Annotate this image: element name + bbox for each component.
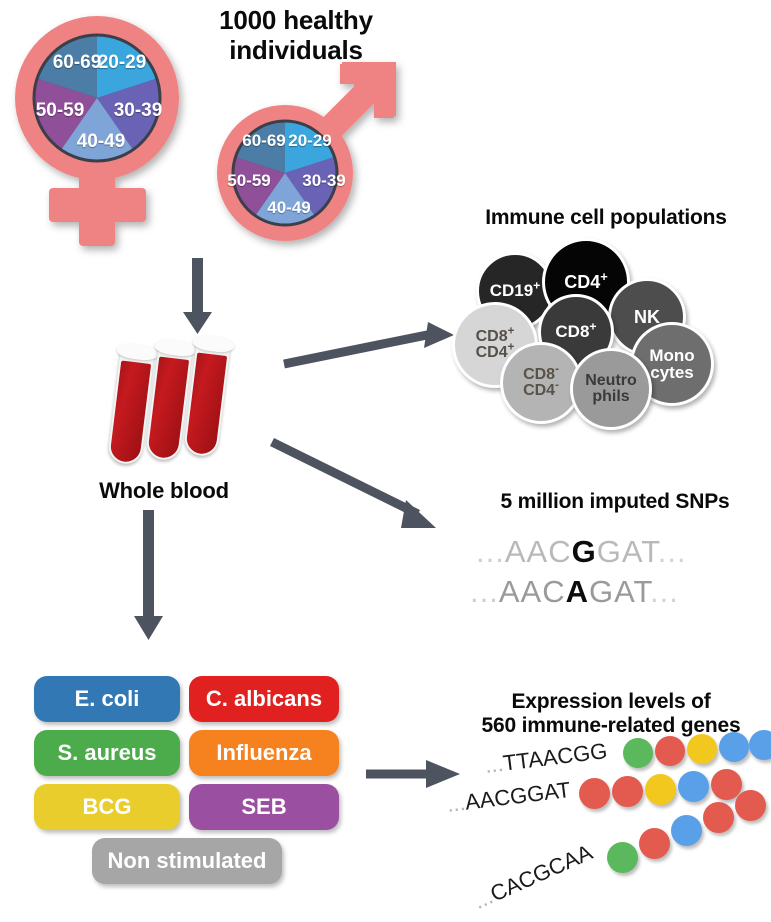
whole-blood-label: Whole blood xyxy=(84,478,244,503)
expression-bead xyxy=(612,776,643,807)
stimulus-seb[interactable]: SEB xyxy=(189,784,339,830)
expression-bead xyxy=(671,815,702,846)
expression-bead xyxy=(623,738,653,768)
snp-sequence-row: ...AACAGAT... xyxy=(470,574,679,610)
stimuli-panel: E. coli C. albicans S. aureus Influenza … xyxy=(34,676,354,896)
snp-row2-prefix: AAC xyxy=(499,574,566,609)
stimulus-non-stimulated[interactable]: Non stimulated xyxy=(92,838,282,884)
snp-row1-prefix: AAC xyxy=(505,534,572,569)
stimulus-e-coli-label: E. coli xyxy=(75,686,140,712)
female-symbol: 20-29 30-39 40-49 50-59 60-69 xyxy=(4,8,204,248)
stimulus-s-aureus[interactable]: S. aureus xyxy=(34,730,180,776)
cell-neutrophils-label: Neutro phils xyxy=(585,373,637,406)
expression-bead xyxy=(655,736,685,766)
arrow-cohort-to-blood xyxy=(178,258,218,336)
stimulus-seb-label: SEB xyxy=(241,794,286,820)
expression-bead xyxy=(607,842,638,873)
strand3-sequence: CACGCAA xyxy=(486,839,596,906)
cohort-title: 1000 healthy individuals xyxy=(176,6,416,66)
strand2-sequence: AACGGAT xyxy=(464,777,572,815)
snp-row1-suffix: GAT xyxy=(597,534,658,569)
expression-bead xyxy=(749,730,771,760)
cell-monocytes-label: Mono cytes xyxy=(649,347,694,382)
snp-row2-suffix: GAT xyxy=(589,574,650,609)
expression-strand: ...CACGCAA xyxy=(470,839,597,914)
cohort-title-line1: 1000 healthy xyxy=(176,6,416,36)
snp-sequences: ...AACGGAT... ...AACAGAT... xyxy=(470,528,760,620)
stimulus-s-aureus-label: S. aureus xyxy=(57,740,156,766)
expression-strand: ...TTAACGG xyxy=(483,738,608,779)
expression-bead xyxy=(639,828,670,859)
arrow-blood-to-snp xyxy=(270,440,460,540)
snp-row1-variant: G xyxy=(572,534,597,569)
cell-cd19-label: CD19+ xyxy=(490,282,541,299)
snp-row2-leading-dots: ... xyxy=(470,574,499,609)
expression-strands: ...TTAACGG ...AACGGAT ...CACGCAA xyxy=(455,720,771,920)
stimulus-bcg[interactable]: BCG xyxy=(34,784,180,830)
expression-title-line1: Expression levels of xyxy=(451,690,771,714)
cell-neutrophils: Neutro phils xyxy=(570,348,652,430)
stimulus-bcg-label: BCG xyxy=(83,794,132,820)
snp-title: 5 million imputed SNPs xyxy=(470,490,760,514)
snp-row2-trailing-dots: ... xyxy=(650,574,679,609)
expression-bead xyxy=(719,732,749,762)
expression-bead xyxy=(579,778,610,809)
stimulus-c-albicans[interactable]: C. albicans xyxy=(189,676,339,722)
blood-tubes xyxy=(112,338,252,468)
arrow-stimuli-to-expression xyxy=(364,756,464,792)
stimulus-e-coli[interactable]: E. coli xyxy=(34,676,180,722)
cell-nk-label: NK xyxy=(634,308,660,326)
expression-bead xyxy=(687,734,717,764)
arrow-blood-to-immune xyxy=(282,322,457,370)
snp-sequence-row: ...AACGGAT... xyxy=(476,534,687,570)
cell-cd4-label: CD4+ xyxy=(564,273,608,291)
expression-bead xyxy=(645,774,676,805)
immune-populations-title: Immune cell populations xyxy=(451,206,761,230)
snp-row2-variant: A xyxy=(566,574,589,609)
cell-cd8neg-cd4neg-label: CD8- CD4- xyxy=(523,367,559,400)
stimulus-c-albicans-label: C. albicans xyxy=(206,686,322,712)
stimulus-influenza-label: Influenza xyxy=(216,740,311,766)
strand1-sequence: TTAACGG xyxy=(502,738,609,776)
cell-cd8-label: CD8+ xyxy=(555,323,596,340)
expression-bead xyxy=(678,771,709,802)
expression-bead xyxy=(735,790,766,821)
male-symbol: 20-29 30-39 40-49 50-59 60-69 xyxy=(196,58,426,258)
stimulus-non-stimulated-label: Non stimulated xyxy=(108,848,267,874)
stimulus-influenza[interactable]: Influenza xyxy=(189,730,339,776)
arrow-blood-to-stimuli xyxy=(130,510,170,640)
snp-row1-leading-dots: ... xyxy=(476,534,505,569)
expression-bead xyxy=(703,802,734,833)
snp-row1-trailing-dots: ... xyxy=(658,534,687,569)
immune-cell-cluster: CD19+ CD4+ NK CD8+ CD4+ CD8+ Mono cytes xyxy=(452,238,752,418)
diagram-canvas: 1000 healthy individuals xyxy=(0,0,771,922)
expression-strand: ...AACGGAT xyxy=(445,777,572,818)
